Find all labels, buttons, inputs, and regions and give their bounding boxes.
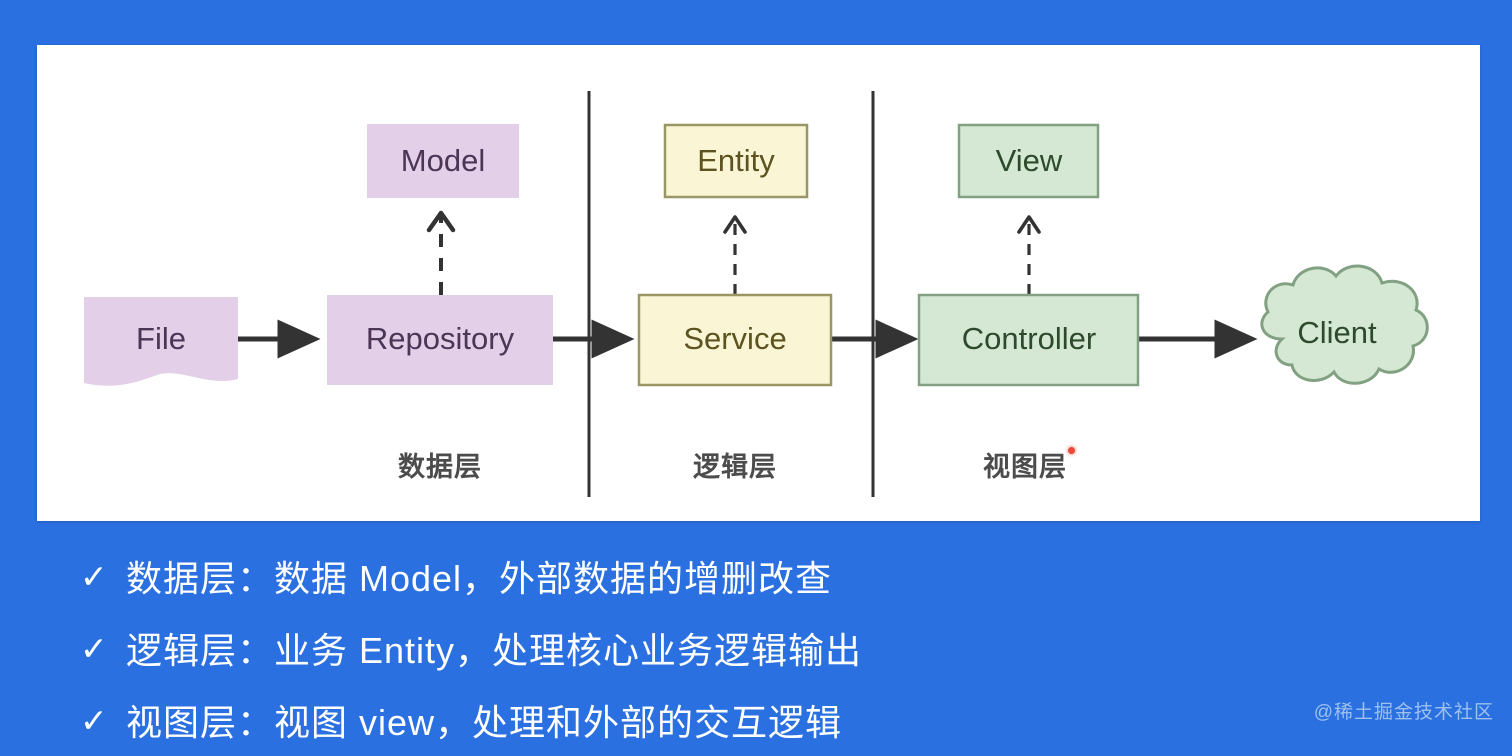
check-icon: ✓ (80, 632, 126, 665)
layer-label-data-text: 数据层 (398, 452, 482, 482)
node-service-label: Service (683, 321, 786, 356)
node-client[interactable]: Client (1262, 266, 1427, 383)
diagram-panel: File Model Repository Entity Service Vie… (37, 45, 1480, 521)
node-entity-label: Entity (697, 143, 775, 178)
list-item-text: 逻辑层：业务 Entity，处理核心业务逻辑输出 (126, 622, 862, 674)
node-view-label: View (996, 143, 1063, 178)
node-service[interactable]: Service (639, 295, 831, 385)
edge-repository-to-model (429, 213, 453, 295)
list-item: ✓ 视图层：视图 view，处理和外部的交互逻辑 (80, 684, 1180, 756)
node-controller-label: Controller (962, 321, 1096, 356)
red-dot-marker-icon (1068, 447, 1075, 454)
list-item-text: 数据层：数据 Model，外部数据的增删改查 (126, 550, 832, 602)
watermark: @稀土掘金技术社区 (1314, 697, 1494, 724)
node-repository-label: Repository (366, 321, 515, 356)
list-item: ✓ 逻辑层：业务 Entity，处理核心业务逻辑输出 (80, 612, 1180, 684)
layer-label-data: 数据层 (398, 445, 482, 484)
edge-service-to-entity (725, 217, 745, 295)
layer-label-view-text: 视图层 (983, 452, 1067, 482)
node-entity[interactable]: Entity (665, 125, 807, 197)
node-file[interactable]: File (84, 297, 238, 386)
node-controller[interactable]: Controller (919, 295, 1138, 385)
node-repository[interactable]: Repository (327, 295, 553, 385)
node-file-label: File (136, 321, 186, 356)
layer-label-logic: 逻辑层 (693, 445, 777, 484)
edge-controller-to-view (1019, 217, 1039, 295)
node-model[interactable]: Model (367, 124, 519, 198)
layer-label-logic-text: 逻辑层 (693, 452, 777, 482)
node-client-label: Client (1297, 315, 1377, 350)
list-item: ✓ 数据层：数据 Model，外部数据的增删改查 (80, 540, 1180, 612)
list-item-text: 视图层：视图 view，处理和外部的交互逻辑 (126, 694, 842, 746)
check-icon: ✓ (80, 704, 126, 737)
node-model-label: Model (401, 143, 485, 178)
node-view[interactable]: View (959, 125, 1098, 197)
check-icon: ✓ (80, 560, 126, 593)
bullet-list: ✓ 数据层：数据 Model，外部数据的增删改查 ✓ 逻辑层：业务 Entity… (80, 540, 1180, 756)
layer-label-view: 视图层 (983, 445, 1075, 484)
